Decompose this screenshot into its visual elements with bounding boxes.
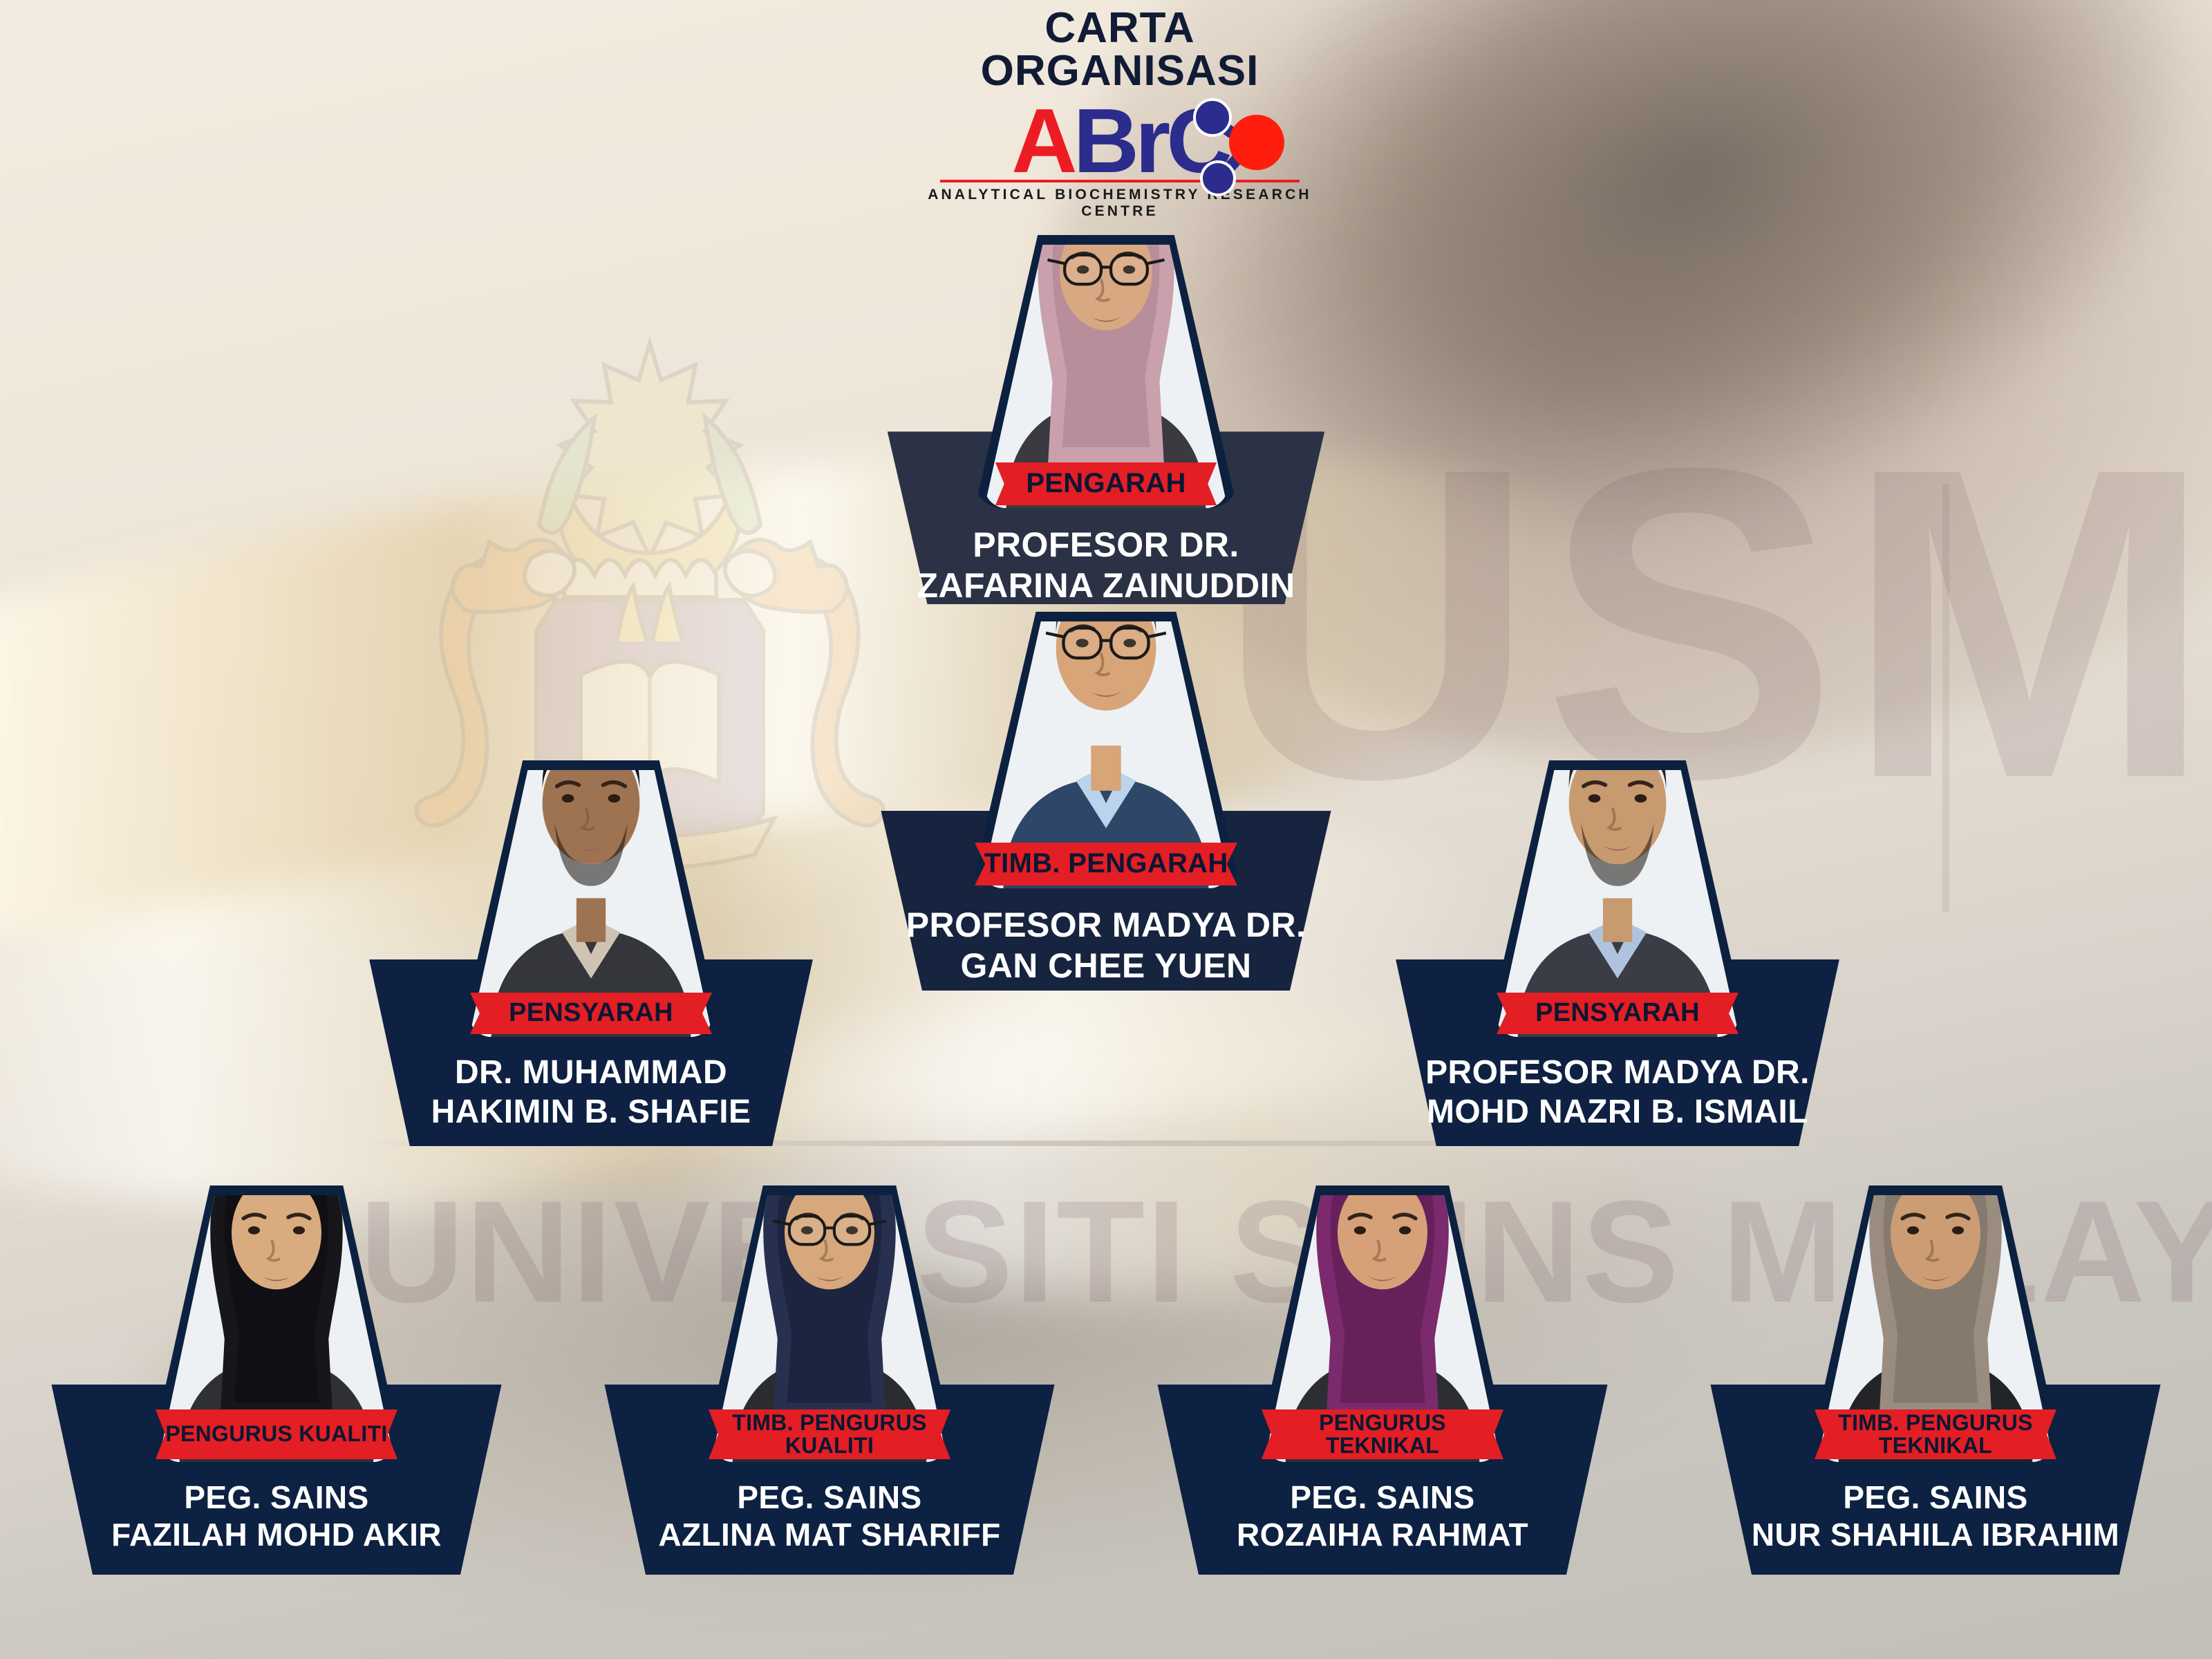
org-node-level3[interactable]: PENSYARAHPROFESOR MADYA DR. MOHD NAZRI B… xyxy=(1379,760,1856,1224)
logo-letter-br: Br xyxy=(1074,90,1167,191)
molecule-icon xyxy=(1175,91,1300,216)
org-node-name: PEG. SAINS AZLINA MAT SHARIFF xyxy=(612,1479,1047,1554)
org-node-name: PROFESOR MADYA DR. MOHD NAZRI B. ISMAIL xyxy=(1403,1053,1832,1132)
role-badge: PENGARAH xyxy=(995,462,1217,505)
role-badge: PENSYARAH xyxy=(470,993,712,1034)
role-badge: PENSYARAH xyxy=(1497,993,1738,1034)
role-badge: TIMB. PENGURUS TEKNIKAL xyxy=(1815,1409,2056,1459)
org-node-name: PEG. SAINS FAZILAH MOHD AKIR xyxy=(59,1479,494,1554)
abrc-wordmark: ABrC xyxy=(926,95,1313,178)
org-chart: PENGARAHPROFESOR DR. ZAFARINA ZAINUDDIN … xyxy=(0,0,2212,1659)
org-node-name: PROFESOR MADYA DR. GAN CHEE YUEN xyxy=(888,905,1324,986)
role-badge: PENGURUS KUALITI xyxy=(156,1409,397,1459)
role-badge: PENGURUS TEKNIKAL xyxy=(1262,1409,1503,1459)
logo-letter-a: A xyxy=(1011,90,1073,191)
org-node-level4[interactable]: TIMB. PENGURUS KUALITIPEG. SAINS AZLINA … xyxy=(588,1185,1071,1652)
page-header: CARTA ORGANISASI ABrC ANALYTICAL BIOCHEM… xyxy=(0,0,2212,207)
org-node-name: PEG. SAINS ROZAIHA RAHMAT xyxy=(1165,1479,1600,1554)
org-node-name: PEG. SAINS NUR SHAHILA IBRAHIM xyxy=(1718,1479,2153,1554)
role-badge: TIMB. PENGURUS KUALITI xyxy=(709,1409,950,1459)
page-title-line2: ORGANISASI xyxy=(926,50,1313,93)
org-node-level4[interactable]: PENGURUS KUALITIPEG. SAINS FAZILAH MOHD … xyxy=(35,1185,518,1652)
org-node-level2[interactable]: TIMB. PENGARAHPROFESOR MADYA DR. GAN CHE… xyxy=(864,612,1348,1068)
org-node-level4[interactable]: TIMB. PENGURUS TEKNIKALPEG. SAINS NUR SH… xyxy=(1694,1185,2177,1652)
org-node-level3[interactable]: PENSYARAHDR. MUHAMMAD HAKIMIN B. SHAFIE xyxy=(353,760,829,1224)
org-node-name: PROFESOR DR. ZAFARINA ZAINUDDIN xyxy=(895,525,1317,606)
abrc-logo-block: CARTA ORGANISASI ABrC ANALYTICAL BIOCHEM… xyxy=(926,7,1313,220)
org-node-level4[interactable]: PENGURUS TEKNIKALPEG. SAINS ROZAIHA RAHM… xyxy=(1141,1185,1624,1652)
role-badge: TIMB. PENGARAH xyxy=(975,843,1237,885)
page-title-line1: CARTA xyxy=(926,7,1313,50)
org-node-name: DR. MUHAMMAD HAKIMIN B. SHAFIE xyxy=(377,1053,805,1132)
